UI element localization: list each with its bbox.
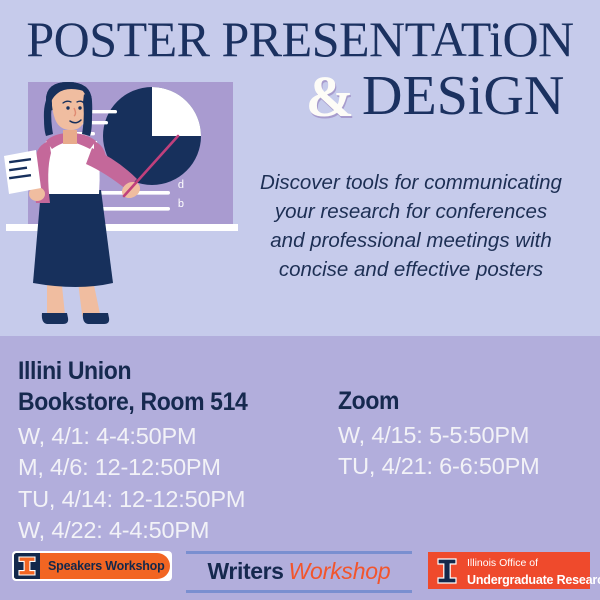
session-list-in-person: W, 4/1: 4-4:50PM M, 4/6: 12-12:50PM TU, …: [18, 421, 338, 546]
schedule-column-zoom: Zoom W, 4/15: 5-5:50PM TU, 4/21: 6-6:50P…: [338, 386, 600, 483]
illinois-i-block-icon: [14, 553, 40, 579]
title-line-1: POSTER PRESENTATiON: [0, 14, 600, 64]
poster-flyer: p q: [0, 0, 600, 600]
logo-undergraduate-research[interactable]: Illinois Office of Undergraduate Researc…: [428, 552, 590, 589]
our-line-1: Illinois Office of: [467, 557, 538, 569]
svg-text:q: q: [178, 198, 184, 210]
presenter-illustration: p q: [0, 78, 240, 340]
illinois-i-block-icon: [433, 556, 461, 586]
venue-line-2: Bookstore, Room 514: [18, 387, 312, 418]
session-item: W, 4/1: 4-4:50PM: [18, 421, 338, 452]
description-line-2: your research for conferences: [228, 197, 594, 226]
venue-name-zoom: Zoom: [338, 386, 579, 417]
description-line-4: concise and effective posters: [228, 255, 594, 284]
venue-line-1: Zoom: [338, 386, 579, 417]
poster-title-line-2: &DESiGN: [270, 68, 600, 126]
workshop-word: Workshop: [289, 558, 391, 584]
session-item: TU, 4/21: 6-6:50PM: [338, 451, 600, 482]
title-design-word: DESiGN: [362, 65, 564, 127]
venue-line-1: Illini Union: [18, 356, 312, 387]
papers-in-hand: [4, 150, 41, 194]
description-line-3: and professional meetings with: [228, 226, 594, 255]
poster-title: POSTER PRESENTATiON: [0, 14, 600, 64]
writers-rule-bottom: [186, 590, 412, 593]
writers-word: Writers: [208, 558, 284, 584]
ampersand-glyph: &: [306, 64, 354, 129]
session-list-zoom: W, 4/15: 5-5:50PM TU, 4/21: 6-6:50PM: [338, 420, 600, 483]
session-item: W, 4/22: 4-4:50PM: [18, 515, 338, 546]
session-item: TU, 4/14: 12-12:50PM: [18, 484, 338, 515]
venue-name-illini-union: Illini Union Bookstore, Room 514: [18, 356, 312, 418]
description-text: Discover tools for communicating your re…: [228, 168, 594, 284]
our-line-2: Undergraduate Research: [467, 573, 600, 587]
logo-writers-workshop[interactable]: WritersWorkshop: [186, 550, 412, 594]
logo-speakers-workshop[interactable]: Speakers Workshop: [12, 551, 172, 581]
session-item: M, 4/6: 12-12:50PM: [18, 452, 338, 483]
schedule-column-in-person: Illini Union Bookstore, Room 514 W, 4/1:…: [18, 356, 338, 546]
description-line-1: Discover tools for communicating: [228, 168, 594, 197]
undergraduate-research-text: Illinois Office of Undergraduate Researc…: [461, 553, 600, 589]
speakers-workshop-label: Speakers Workshop: [40, 559, 165, 573]
session-item: W, 4/15: 5-5:50PM: [338, 420, 600, 451]
svg-text:p: p: [178, 179, 184, 191]
